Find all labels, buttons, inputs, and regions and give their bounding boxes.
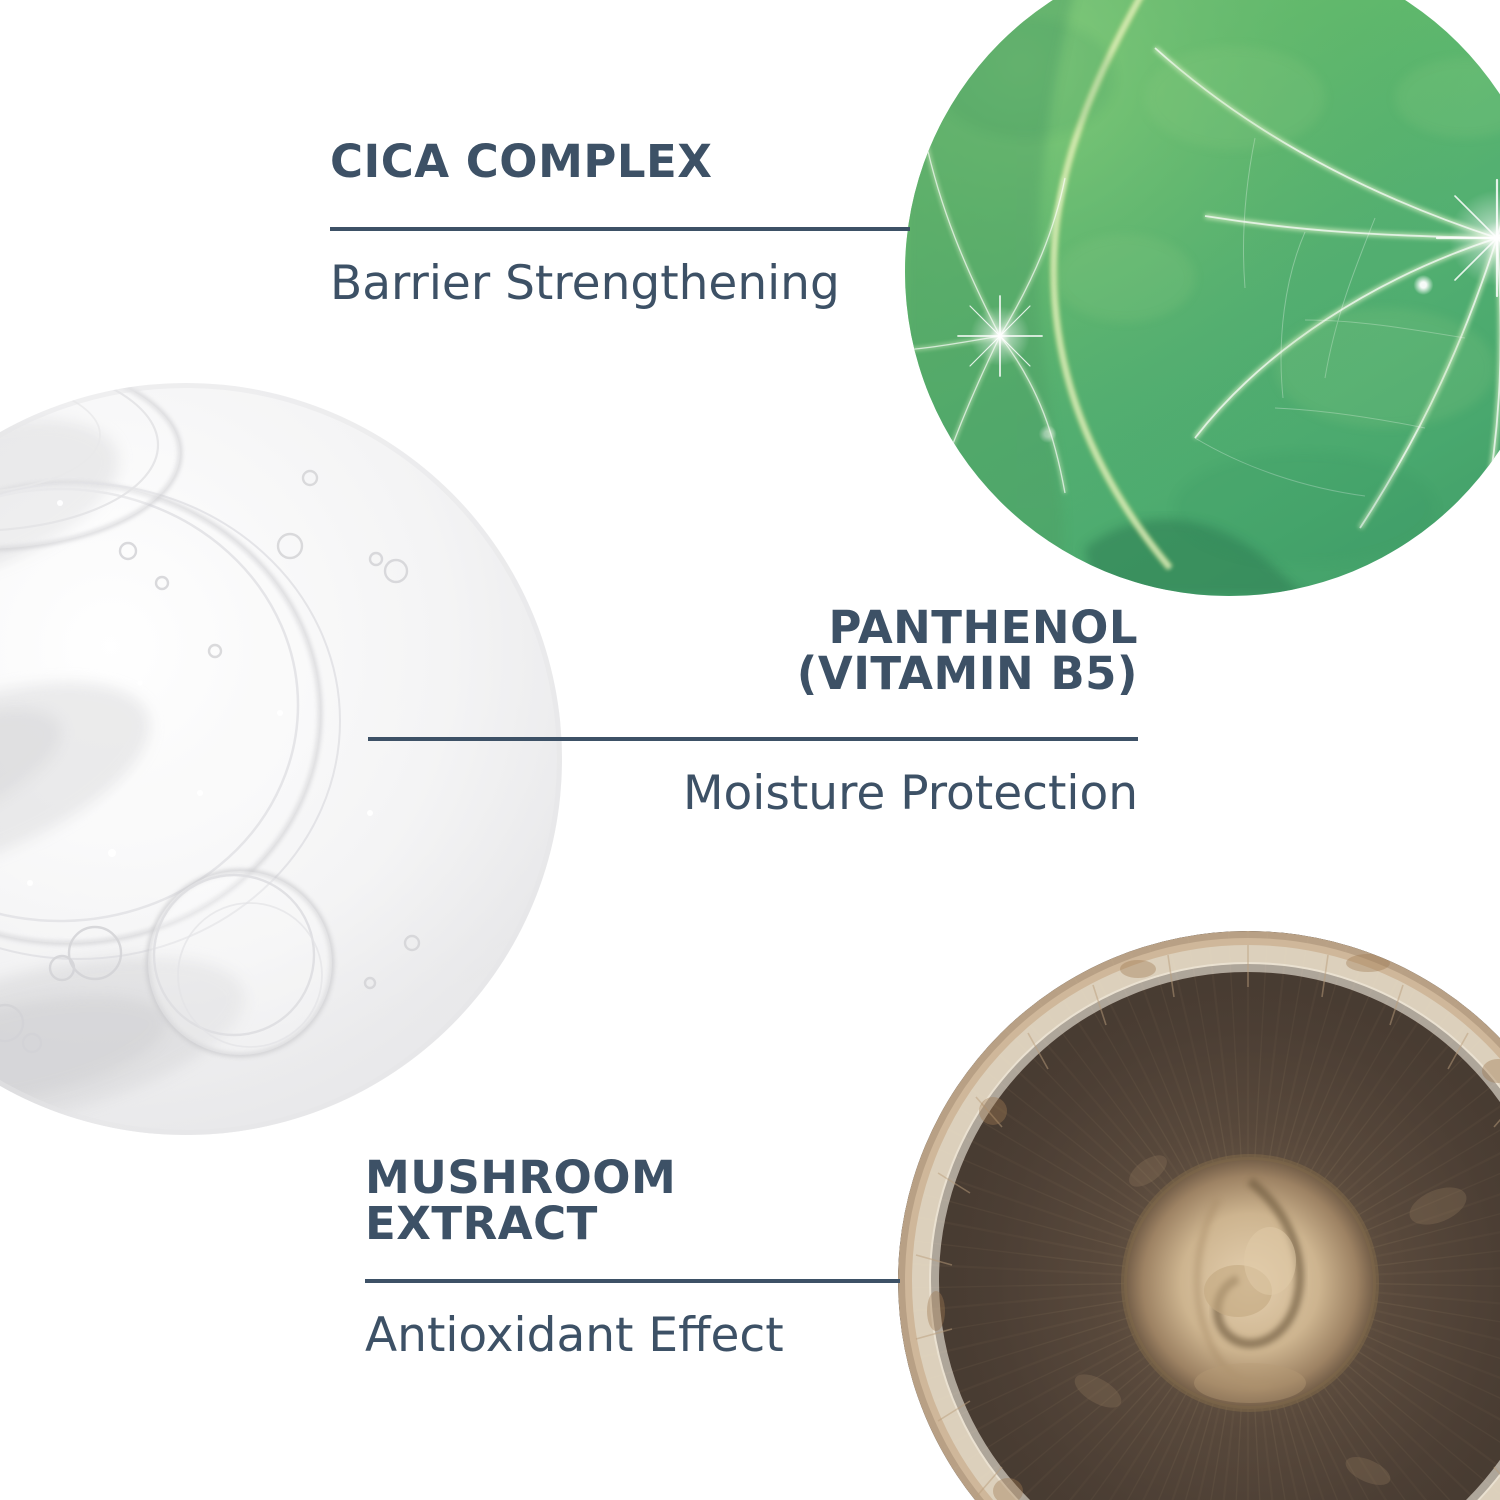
ingredient-title-mushroom-line1: MUSHROOM <box>365 1155 900 1201</box>
divider-rule-panthenol <box>368 737 1138 741</box>
ingredient-title-mushroom-line2: EXTRACT <box>365 1201 900 1247</box>
divider-rule-cica-complex <box>330 227 910 231</box>
ingredient-title-cica-complex: CICA COMPLEX <box>330 139 910 185</box>
ingredient-benefit-mushroom-extract: Antioxidant Effect <box>365 1311 900 1360</box>
mushroom-gill-overlay <box>898 931 1500 1500</box>
ingredient-title-panthenol-line1: PANTHENOL <box>368 605 1138 651</box>
leaf-vein-overlay <box>905 0 1500 596</box>
ingredient-benefit-panthenol: Moisture Protection <box>368 769 1138 818</box>
ingredient-benefit-cica-complex: Barrier Strengthening <box>330 259 910 308</box>
mushroom-gills-photo <box>898 931 1500 1500</box>
divider-rule-mushroom-extract <box>365 1279 900 1283</box>
infographic-canvas: CICA COMPLEX Barrier Strengthening PANTH… <box>0 0 1500 1500</box>
ingredient-title-panthenol-line2: (VITAMIN B5) <box>368 651 1138 697</box>
ingredient-block-cica-complex: CICA COMPLEX Barrier Strengthening <box>330 139 910 308</box>
ingredient-block-panthenol: PANTHENOL (VITAMIN B5) Moisture Protecti… <box>368 605 1138 818</box>
green-leaf-photo <box>905 0 1500 596</box>
ingredient-block-mushroom-extract: MUSHROOM EXTRACT Antioxidant Effect <box>365 1155 900 1360</box>
